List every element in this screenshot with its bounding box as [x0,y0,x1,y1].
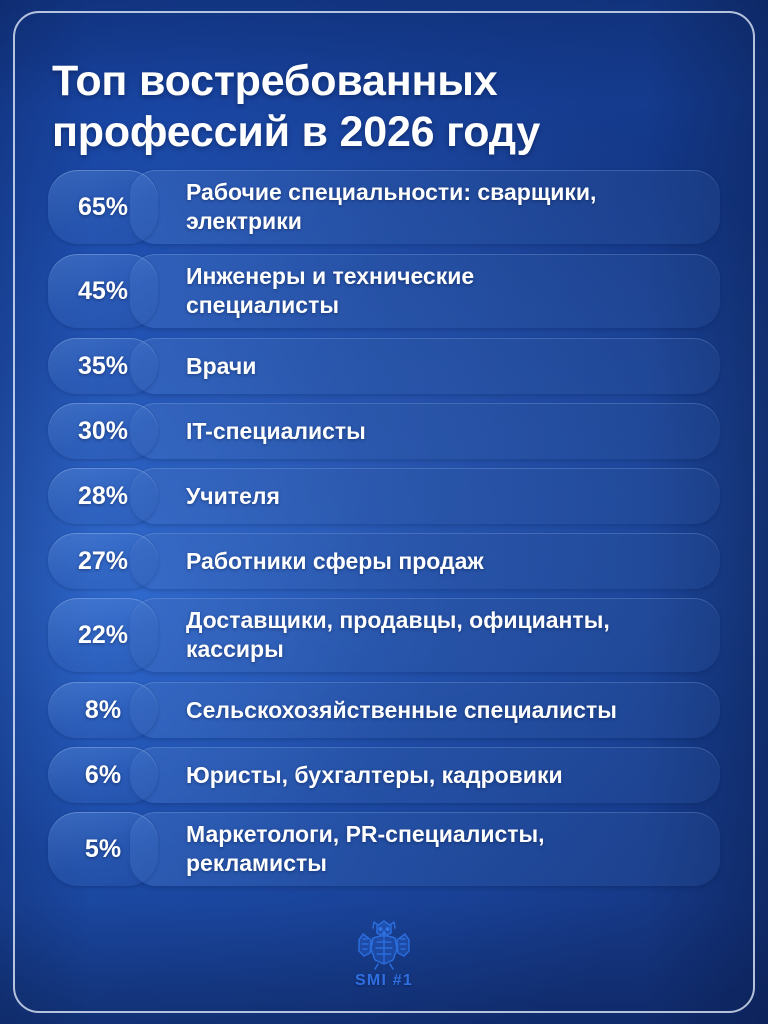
percentage-badge: 45% [48,254,158,328]
percentage-badge: 8% [48,682,158,738]
percentage-badge: 22% [48,598,158,672]
table-row: 8%Сельскохозяйственные специалисты [48,682,720,738]
footer-branding: SMI #1 [0,918,768,990]
page-title: Топ востребованных профессий в 2026 году [52,56,692,157]
profession-label-bar: Врачи [130,338,720,394]
profession-ranking-list: 65%Рабочие специальности: сварщики, элек… [48,170,720,896]
percentage-badge: 35% [48,338,158,394]
percentage-badge: 30% [48,403,158,459]
bear-emblem-icon [353,918,415,970]
table-row: 5%Маркетологи, PR-специалисты, рекламист… [48,812,720,886]
profession-label-bar: Инженеры и технические специалисты [130,254,720,328]
percentage-badge: 6% [48,747,158,803]
profession-label-bar: Доставщики, продавцы, официанты, кассиры [130,598,720,672]
table-row: 35%Врачи [48,338,720,394]
profession-label-bar: Учителя [130,468,720,524]
table-row: 28%Учителя [48,468,720,524]
table-row: 45%Инженеры и технические специалисты [48,254,720,328]
poster-content: Топ востребованных профессий в 2026 году… [0,0,768,1024]
percentage-badge: 5% [48,812,158,886]
profession-label-bar: Работники сферы продаж [130,533,720,589]
infographic-poster: Топ востребованных профессий в 2026 году… [0,0,768,1024]
table-row: 22%Доставщики, продавцы, официанты, касс… [48,598,720,672]
table-row: 27%Работники сферы продаж [48,533,720,589]
table-row: 65%Рабочие специальности: сварщики, элек… [48,170,720,244]
table-row: 30% IT-специалисты [48,403,720,459]
profession-label-bar: Сельскохозяйственные специалисты [130,682,720,738]
profession-label-bar: Рабочие специальности: сварщики, электри… [130,170,720,244]
profession-label-bar: Юристы, бухгалтеры, кадровики [130,747,720,803]
profession-label-bar: Маркетологи, PR-специалисты, рекламисты [130,812,720,886]
percentage-badge: 28% [48,468,158,524]
table-row: 6%Юристы, бухгалтеры, кадровики [48,747,720,803]
percentage-badge: 27% [48,533,158,589]
brand-name: SMI #1 [355,972,413,990]
percentage-badge: 65% [48,170,158,244]
profession-label-bar: IT-специалисты [130,403,720,459]
